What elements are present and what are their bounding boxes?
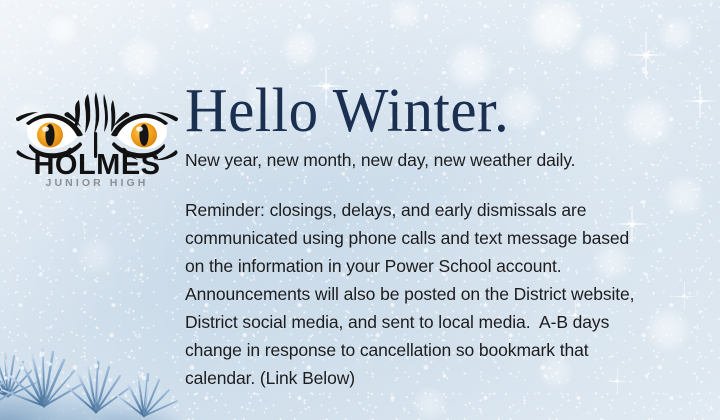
frosted-pine-branch — [0, 286, 182, 420]
body-line: calendar. (Link Below) — [185, 364, 697, 392]
logo-subtext: JUNIOR HIGH — [46, 177, 149, 188]
body-line: communicated using phone calls and text … — [185, 224, 697, 252]
body-line: Reminder: closings, delays, and early di… — [185, 196, 697, 224]
body-line: change in response to cancellation so bo… — [185, 336, 697, 364]
body-line: Announcements will also be posted on the… — [185, 280, 697, 308]
sparkle-icon — [623, 32, 669, 78]
page-title: Hello Winter. — [185, 78, 705, 143]
announcement-body: Reminder: closings, delays, and early di… — [185, 196, 697, 392]
logo-artwork: HOLMES JUNIOR HIGH — [14, 88, 180, 188]
subheadline: New year, new month, new day, new weathe… — [185, 150, 705, 172]
holmes-junior-high-logo: HOLMES JUNIOR HIGH — [14, 88, 180, 188]
announcement-content: Hello Winter. New year, new month, new d… — [185, 78, 705, 392]
winter-announcement-banner: HOLMES JUNIOR HIGH Hello Winter. New yea… — [0, 0, 720, 420]
body-line: on the information in your Power School … — [185, 252, 697, 280]
body-line: District social media, and sent to local… — [185, 308, 697, 336]
